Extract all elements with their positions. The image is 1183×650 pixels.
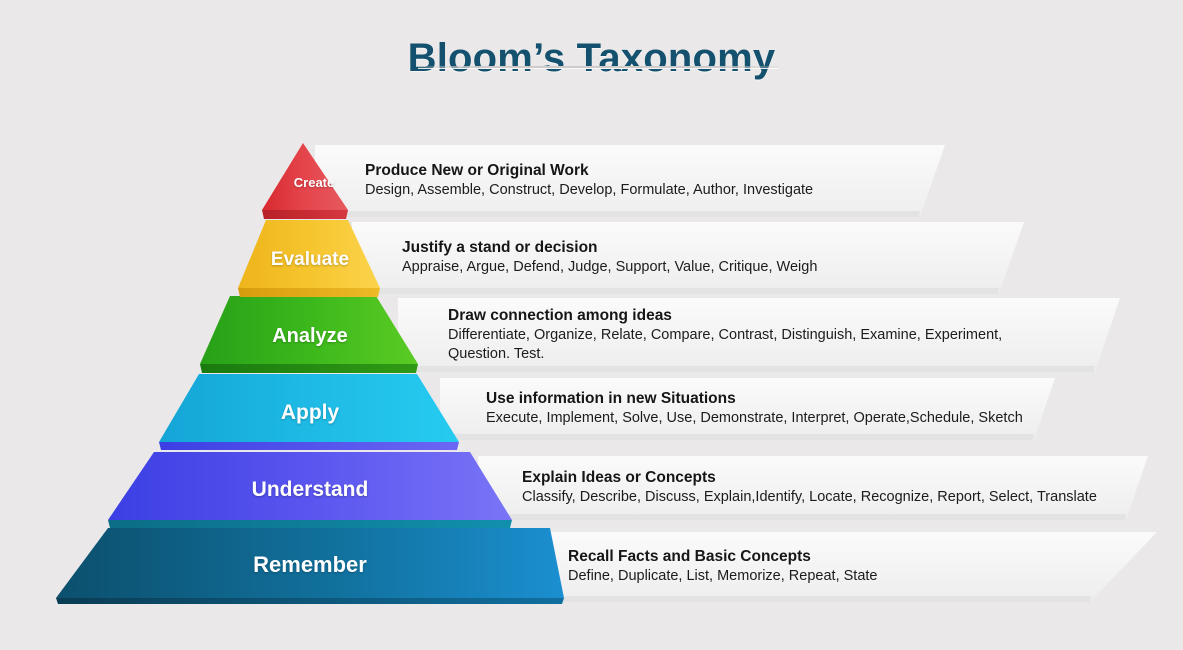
panel-remember-head: Recall Facts and Basic Concepts bbox=[568, 547, 1108, 567]
panel-apply-head: Use information in new Situations bbox=[486, 389, 1046, 409]
panel-remember-text: Recall Facts and Basic Concepts Define, … bbox=[568, 532, 1108, 602]
tier-create[interactable]: Create bbox=[258, 140, 362, 224]
panel-analyze-text: Draw connection among ideas Differentiat… bbox=[448, 298, 1108, 372]
panel-understand-sub: Classify, Describe, Discuss, Explain,Ide… bbox=[522, 488, 1132, 508]
panel-evaluate[interactable]: Justify a stand or decision Appraise, Ar… bbox=[352, 222, 1024, 294]
panel-apply[interactable]: Use information in new Situations Execut… bbox=[440, 378, 1055, 440]
panel-create-head: Produce New or Original Work bbox=[365, 161, 925, 181]
panel-analyze-sub-line2: Question. Test. bbox=[448, 345, 1108, 365]
panel-apply-sub: Execute, Implement, Solve, Use, Demonstr… bbox=[486, 409, 1046, 429]
tier-understand[interactable]: Understand bbox=[102, 450, 518, 530]
tier-apply-shape bbox=[155, 372, 465, 454]
panel-evaluate-text: Justify a stand or decision Appraise, Ar… bbox=[402, 222, 1002, 294]
panel-understand-text: Explain Ideas or Concepts Classify, Desc… bbox=[522, 456, 1132, 520]
panel-create-text: Produce New or Original Work Design, Ass… bbox=[365, 145, 925, 217]
tier-evaluate[interactable]: Evaluate bbox=[236, 218, 384, 302]
tier-create-shape bbox=[258, 140, 362, 224]
panel-analyze[interactable]: Draw connection among ideas Differentiat… bbox=[398, 298, 1120, 372]
panel-analyze-sub-line1: Differentiate, Organize, Relate, Compare… bbox=[448, 326, 1108, 346]
tier-understand-shape bbox=[102, 450, 518, 530]
blooms-taxonomy-pyramid: Produce New or Original Work Design, Ass… bbox=[0, 0, 1183, 650]
diagram-canvas: Bloom’s Taxonomy Produce New or Original… bbox=[0, 0, 1183, 650]
tier-remember-shape bbox=[50, 524, 570, 606]
panel-understand-head: Explain Ideas or Concepts bbox=[522, 468, 1132, 488]
tier-analyze[interactable]: Analyze bbox=[196, 294, 424, 378]
tier-remember[interactable]: Remember bbox=[50, 524, 570, 606]
panel-apply-text: Use information in new Situations Execut… bbox=[486, 378, 1046, 440]
panel-understand[interactable]: Explain Ideas or Concepts Classify, Desc… bbox=[478, 456, 1148, 520]
tier-analyze-shape bbox=[196, 294, 424, 378]
tier-evaluate-shape bbox=[236, 218, 384, 302]
tier-apply[interactable]: Apply bbox=[155, 372, 465, 454]
panel-remember-sub: Define, Duplicate, List, Memorize, Repea… bbox=[568, 567, 1108, 587]
panel-create[interactable]: Produce New or Original Work Design, Ass… bbox=[315, 145, 945, 217]
panel-remember[interactable]: Recall Facts and Basic Concepts Define, … bbox=[520, 532, 1157, 602]
panel-evaluate-sub: Appraise, Argue, Defend, Judge, Support,… bbox=[402, 258, 1002, 278]
panel-create-sub: Design, Assemble, Construct, Develop, Fo… bbox=[365, 181, 925, 201]
panel-analyze-head: Draw connection among ideas bbox=[448, 306, 1108, 326]
panel-evaluate-head: Justify a stand or decision bbox=[402, 238, 1002, 258]
